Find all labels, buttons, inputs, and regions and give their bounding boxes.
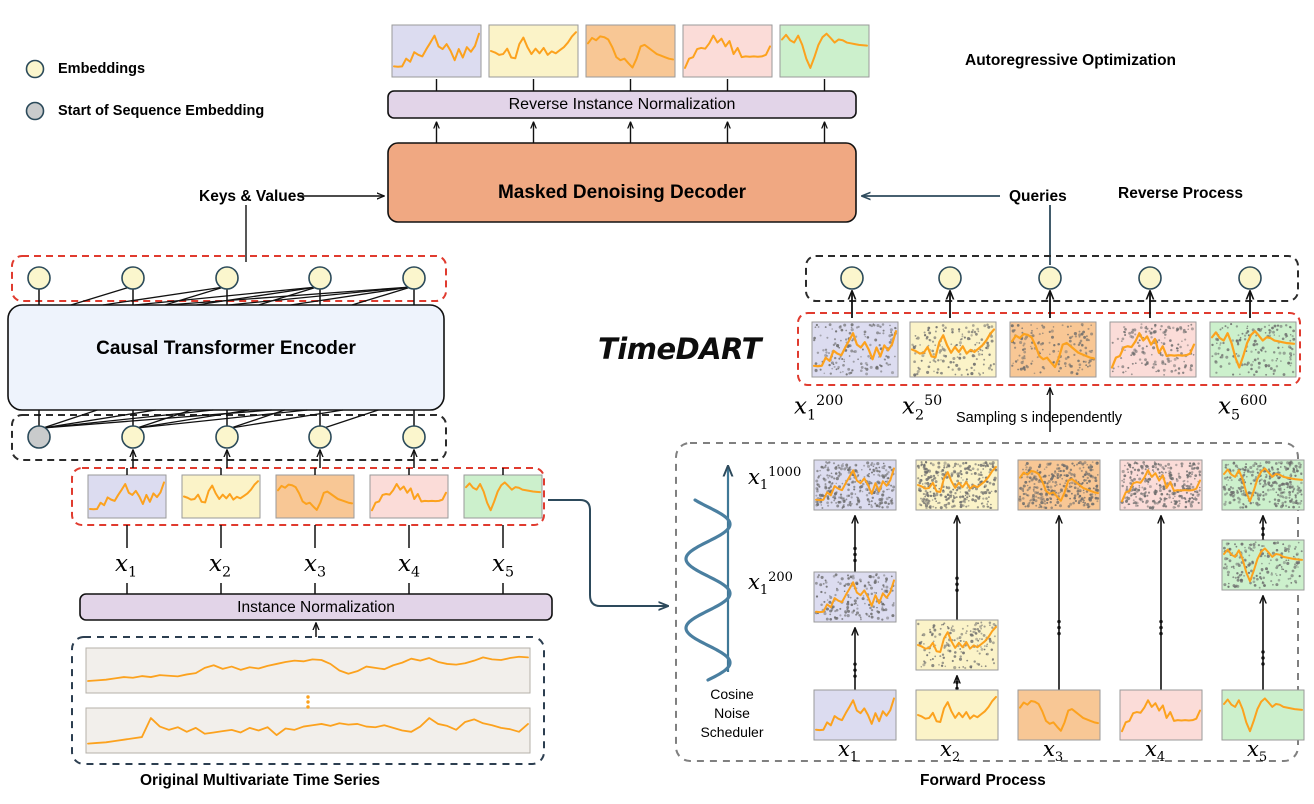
sine-wave-icon — [686, 500, 730, 680]
block-label-reverse-instance-norm: Reverse Instance Normalization — [388, 96, 856, 114]
embedding-node — [403, 267, 425, 289]
fwd-series-label-x2: x2 — [940, 737, 960, 765]
input-series-panel — [370, 475, 448, 518]
block-label-causal-transformer-encoder: Causal Transformer Encoder — [8, 338, 444, 360]
noisy-label-x5-600: x5600 — [1218, 393, 1267, 423]
scheduler-line: Cosine — [690, 685, 774, 704]
panel-bg — [88, 475, 166, 518]
circle-icon — [22, 56, 48, 82]
embedding-node — [28, 267, 50, 289]
output-series-panel — [392, 25, 481, 77]
input-to-forward-connector — [548, 500, 668, 606]
input-series-panel — [464, 475, 542, 518]
panel-bg — [392, 25, 481, 77]
embedding-node — [841, 267, 863, 289]
edge-label-queries: Queries — [1009, 188, 1067, 206]
panel-bg — [814, 572, 896, 622]
vertical-ellipsis-icon — [1261, 650, 1264, 665]
legend: Embeddings Start of Sequence Embedding — [22, 55, 264, 125]
start-of-sequence-node — [28, 426, 50, 448]
fwd-series-label-x3: x3 — [1043, 737, 1063, 765]
series-label-x2: x2 — [209, 551, 231, 581]
series-label-x3: x3 — [304, 551, 326, 581]
scheduler-label: Cosine Noise Scheduler — [690, 685, 774, 742]
embedding-node — [1239, 267, 1261, 289]
heading-autoregressive-optimization: Autoregressive Optimization — [965, 52, 1176, 70]
forward-series-panel — [814, 572, 896, 622]
heading-forward-process: Forward Process — [920, 772, 1046, 790]
panel-bg — [1222, 690, 1304, 740]
scheduler-line: Scheduler — [690, 723, 774, 742]
embedding-node — [1039, 267, 1061, 289]
input-series-panel — [88, 475, 166, 518]
scheduler-line: Noise — [690, 704, 774, 723]
forward-series-panel — [1120, 460, 1202, 510]
vertical-ellipsis-icon — [1057, 620, 1060, 635]
noisy-label-x2-50: x250 — [902, 393, 942, 423]
output-series-panel — [683, 25, 772, 77]
output-series-panel — [586, 25, 675, 77]
forward-series-panel — [814, 690, 896, 740]
block-label-instance-normalization: Instance Normalization — [80, 599, 552, 617]
noisy-series-panel — [1110, 322, 1196, 377]
embedding-node — [122, 267, 144, 289]
circle-icon — [22, 98, 48, 124]
forward-series-panel — [1222, 460, 1304, 510]
fwd-series-label-x5: x5 — [1247, 737, 1267, 765]
block-label-masked-denoising-decoder: Masked Denoising Decoder — [388, 182, 856, 204]
vertical-ellipsis-icon — [853, 547, 856, 562]
attention-line — [324, 410, 378, 428]
embedding-node — [309, 267, 331, 289]
embedding-node — [216, 267, 238, 289]
series-label-x5: x5 — [492, 551, 514, 581]
series-label-x4: x4 — [398, 551, 420, 581]
fwd-series-label-x4: x4 — [1145, 737, 1165, 765]
forward-series-panel — [916, 620, 998, 670]
panel-bg — [464, 475, 542, 518]
embedding-node — [122, 426, 144, 448]
series-label-x1: x1 — [115, 551, 137, 581]
embedding-node — [403, 426, 425, 448]
forward-series-panel — [1222, 690, 1304, 740]
embedding-node — [309, 426, 331, 448]
panel-bg — [814, 690, 896, 740]
heading-reverse-process: Reverse Process — [1118, 185, 1243, 203]
fwd-series-label-x1: x1 — [838, 737, 858, 765]
input-series-panel — [182, 475, 260, 518]
forward-series-panel — [1018, 460, 1100, 510]
logo-text: TimeDART — [598, 332, 761, 366]
noisy-series-panel — [1210, 322, 1296, 377]
noisy-series-panel — [1010, 322, 1096, 377]
original-series-panel-top — [86, 648, 530, 693]
vertical-ellipsis-icon — [1159, 620, 1162, 635]
fwd-label-x1-200: x1200 — [748, 570, 793, 598]
embedding-node — [939, 267, 961, 289]
original-series-panel-bottom — [86, 708, 530, 753]
legend-item-sos: Start of Sequence Embedding — [22, 97, 264, 125]
legend-label: Start of Sequence Embedding — [58, 103, 264, 119]
forward-series-panel — [814, 460, 896, 510]
forward-series-panel — [916, 690, 998, 740]
embedding-node — [216, 426, 238, 448]
edge-label-sampling: Sampling s independently — [956, 410, 1122, 426]
panel-bg — [780, 25, 869, 77]
heading-original-series: Original Multivariate Time Series — [140, 772, 380, 790]
noisy-series-panel — [910, 322, 996, 377]
legend-item-embeddings: Embeddings — [22, 55, 264, 83]
forward-series-panel — [1018, 690, 1100, 740]
panel-bg — [586, 25, 675, 77]
embedding-node — [1139, 267, 1161, 289]
panel-bg — [276, 475, 354, 518]
panel-bg — [1018, 690, 1100, 740]
legend-label: Embeddings — [58, 61, 145, 77]
input-series-panel — [276, 475, 354, 518]
forward-series-panel — [1120, 690, 1202, 740]
forward-series-panel — [916, 460, 998, 510]
attention-line — [43, 410, 156, 428]
fwd-label-x1-1000: x11000 — [748, 465, 801, 493]
edge-label-keys-values: Keys & Values — [199, 188, 305, 206]
noisy-series-panel — [812, 322, 898, 377]
vertical-ellipsis-icon — [306, 695, 309, 708]
output-series-panel — [489, 25, 578, 77]
vertical-ellipsis-icon — [955, 577, 958, 592]
vertical-ellipsis-icon — [853, 662, 856, 677]
forward-series-panel — [1222, 540, 1304, 590]
output-series-panel — [780, 25, 869, 77]
noisy-label-x1-200: x1200 — [794, 393, 843, 423]
